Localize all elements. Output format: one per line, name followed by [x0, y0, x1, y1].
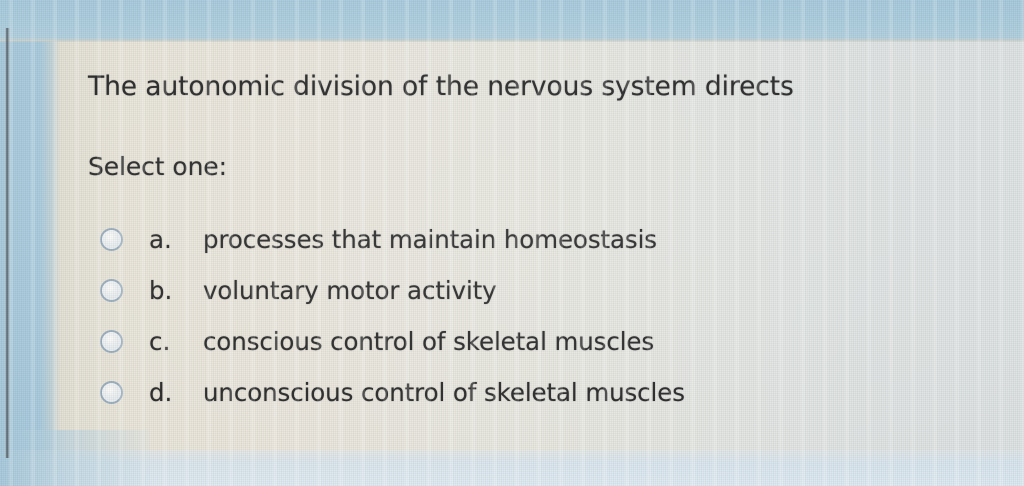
- photo-vignette-overlay: [0, 0, 1024, 486]
